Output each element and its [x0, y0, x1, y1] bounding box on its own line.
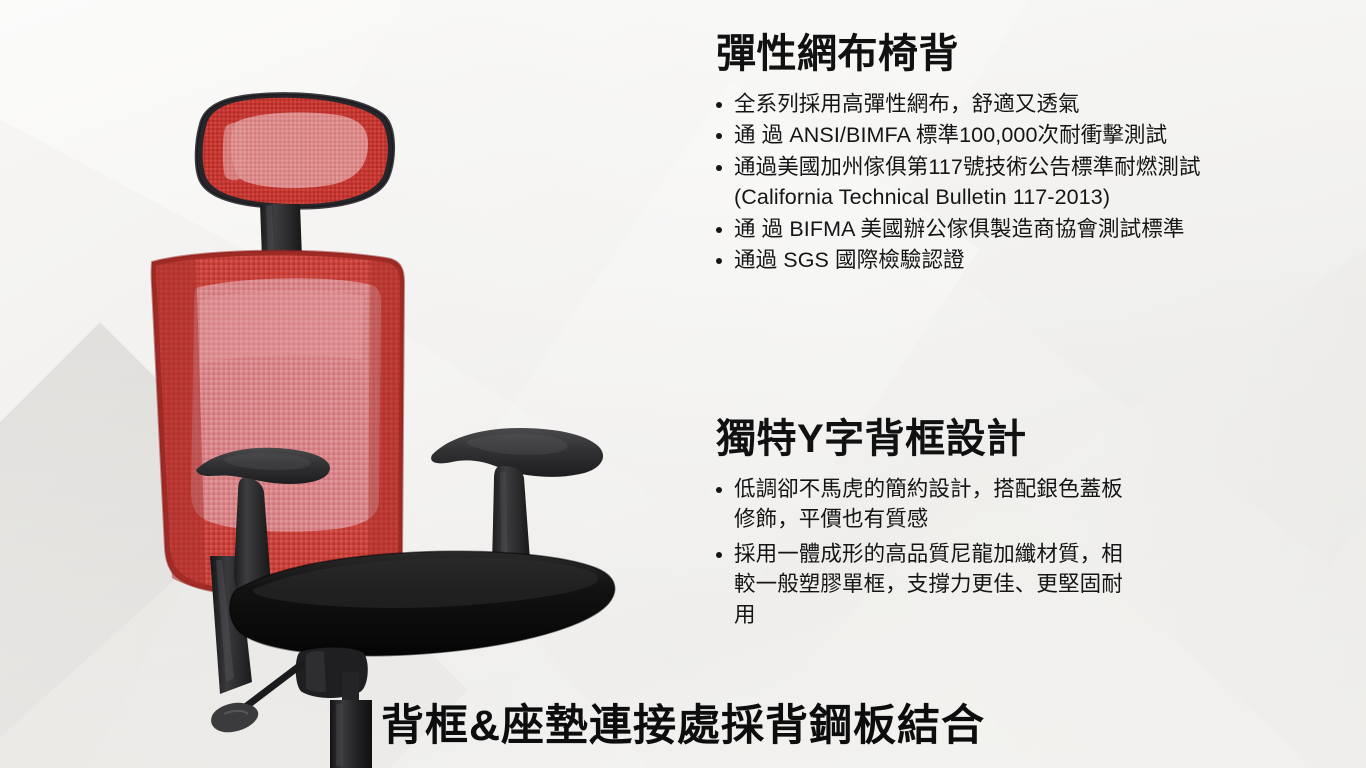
bullet-text: 通 過 ANSI/BIMFA 標準100,000次耐衝擊測試	[734, 120, 1260, 151]
section-title-mesh-back: 彈性網布椅背	[716, 32, 1260, 77]
list-item: 低調卻不馬虎的簡約設計，搭配銀色蓋板修飾，平價也有質感	[700, 474, 1130, 535]
product-image-office-chair	[0, 0, 660, 768]
bullet-text: 通 過 BIFMA 美國辦公傢俱製造商協會測試標準	[734, 214, 1260, 245]
bullet-text: 通過 SGS 國際檢驗認證	[734, 245, 1260, 276]
slide-canvas: 彈性網布椅背 全系列採用高彈性網布，舒適又透氣 通 過 ANSI/BIMFA 標…	[0, 0, 1366, 768]
list-item: 通 過 ANSI/BIMFA 標準100,000次耐衝擊測試	[700, 120, 1260, 151]
bottom-banner: 背框&座墊連接處採背鋼板結合	[0, 703, 1366, 768]
bullet-list-y-frame: 低調卻不馬虎的簡約設計，搭配銀色蓋板修飾，平價也有質感 採用一體成形的高品質尼龍…	[700, 474, 1260, 631]
list-item: 通 過 BIFMA 美國辦公傢俱製造商協會測試標準	[700, 214, 1260, 245]
bullet-text: 全系列採用高彈性網布，舒適又透氣	[734, 89, 1260, 120]
section-y-frame: 獨特Y字背框設計 低調卻不馬虎的簡約設計，搭配銀色蓋板修飾，平價也有質感 採用一…	[700, 417, 1260, 634]
list-item: 全系列採用高彈性網布，舒適又透氣	[700, 89, 1260, 120]
list-item: 通過 SGS 國際檢驗認證	[700, 245, 1260, 276]
banner-title: 背框&座墊連接處採背鋼板結合	[0, 703, 1366, 750]
chair-mesh-backrest	[152, 251, 404, 599]
section-mesh-back: 彈性網布椅背 全系列採用高彈性網布，舒適又透氣 通 過 ANSI/BIMFA 標…	[700, 32, 1260, 277]
bullet-text: 低調卻不馬虎的簡約設計，搭配銀色蓋板修飾，平價也有質感	[734, 474, 1130, 535]
section-title-y-frame: 獨特Y字背框設計	[716, 417, 1260, 462]
list-item: 通過美國加州傢俱第117號技術公告標準耐燃測試(California Techn…	[700, 152, 1260, 213]
feature-text-column: 彈性網布椅背 全系列採用高彈性網布，舒適又透氣 通 過 ANSI/BIMFA 標…	[700, 0, 1366, 768]
list-item: 採用一體成形的高品質尼龍加纖材質，相較一般塑膠單框，支撐力更佳、更堅固耐用	[700, 539, 1130, 631]
chair-headrest	[196, 94, 393, 208]
bullet-text: 採用一體成形的高品質尼龍加纖材質，相較一般塑膠單框，支撐力更佳、更堅固耐用	[734, 539, 1130, 631]
bullet-text: 通過美國加州傢俱第117號技術公告標準耐燃測試(California Techn…	[734, 152, 1260, 213]
bullet-list-mesh-back: 全系列採用高彈性網布，舒適又透氣 通 過 ANSI/BIMFA 標準100,00…	[700, 89, 1260, 276]
